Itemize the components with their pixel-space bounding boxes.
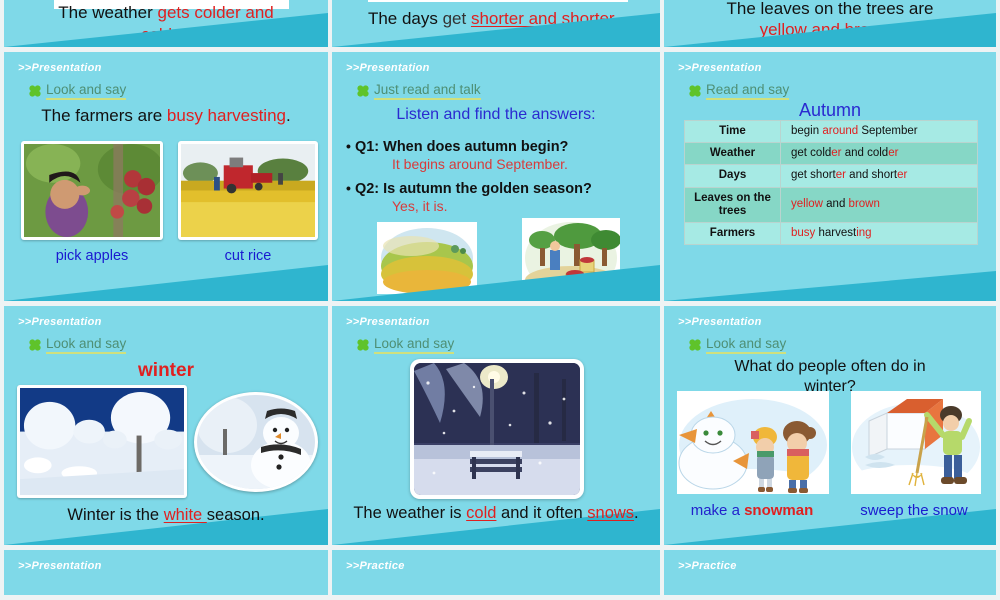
task-heading: Look and say [688,336,786,354]
slide-r2c2[interactable]: >>Presentation Just read and talk Listen… [332,52,660,301]
task-label: Just read and talk [374,82,481,100]
slide-r4c2[interactable]: >>Practice [332,550,660,595]
row-value: yellow and brown [781,187,978,222]
task-heading: Read and say [688,82,789,100]
r3c3-caption-right: sweep the snow [836,502,992,519]
task-label: Look and say [46,82,126,100]
breadcrumb: >>Presentation [678,316,762,328]
row-key: Weather [685,143,781,165]
question-list: • Q1: When does autumn begin? It begins … [346,138,650,222]
r3c1-sentence-b: white [164,506,207,524]
slide-r3c3[interactable]: >>Presentation Look and say What do peop… [664,306,996,545]
caption-cut-rice: cut rice [178,248,318,264]
breadcrumb: >>Presentation [18,560,102,572]
r1c1-text-b: gets colder and [157,3,273,22]
val-plain: get cold [791,147,831,159]
clover-icon [688,84,702,98]
r1c3-text-c: . [896,20,901,39]
table-row: Farmers busy harvesting [685,223,978,245]
image-golden-field[interactable] [377,222,477,294]
clover-icon [28,84,42,98]
val-red: er [831,147,841,159]
image-apple-picking[interactable] [21,141,163,240]
val-red: yellow [791,198,823,210]
r1c1-text-a: The weather [58,3,157,22]
breadcrumb: >>Presentation [346,316,430,328]
val-plain: begin [791,125,822,137]
r3c3-caption-left-b: snowman [744,502,813,519]
q2-text: Q2: Is autumn the golden season? [355,181,592,197]
image-apple-harvest-illustration[interactable] [522,218,620,298]
image-snowy-forest[interactable] [17,385,187,498]
val-red2: brown [849,198,880,210]
breadcrumb: >>Practice [678,560,737,572]
row-value: begin around September [781,121,978,143]
r3c2-sentence-b: cold [466,504,496,522]
clover-icon [688,338,702,352]
row-key: Leaves on the trees [685,187,781,222]
r2c2-heading: Listen and find the answers: [332,106,660,124]
task-heading: Just read and talk [356,82,481,100]
r3c2-sentence-c: and it often [496,504,587,522]
q1-text: Q1: When does autumn begin? [355,139,568,155]
row-value: busy harvesting [781,223,978,245]
row-value: get shorter and shorter [781,165,978,187]
r2c1-title-a: The farmers are [41,106,167,125]
table-row: Days get shorter and shorter [685,165,978,187]
question-row: • Q1: When does autumn begin? It begins … [346,138,650,172]
caption-pick-apples: pick apples [21,248,163,264]
clover-icon [28,338,42,352]
row-value: get colder and colder [781,143,978,165]
r3c3-caption-left-a: make a [691,502,744,519]
val-red2: ing [856,227,871,239]
row-key: Time [685,121,781,143]
val-red: around [822,125,858,137]
r2c1-title-c: . [286,106,291,125]
slide-r1c3[interactable]: The leaves on the trees are yellow and b… [664,0,996,47]
val-red2: er [888,147,898,159]
r3c2-sentence-a: The weather is [353,504,466,522]
r1c2-text-b: get [443,9,471,28]
r2c1-title-b: busy harvesting [167,106,286,125]
table-row: Time begin around September [685,121,978,143]
slide-r2c1[interactable]: >>Presentation Look and say The farmers … [4,52,328,301]
row-key: Farmers [685,223,781,245]
val-plain2: and cold [842,147,889,159]
val-plain2: harvest [815,227,856,239]
r3c1-sentence-a: Winter is the [67,506,163,524]
clover-icon [356,84,370,98]
bullet: • [346,138,351,154]
r1c1-text-c: colder. [141,25,191,44]
autumn-table: Time begin around September Weather get … [684,120,978,245]
image-kids-building-snowman[interactable] [677,391,829,494]
bullet: • [346,180,351,196]
clover-icon [356,338,370,352]
breadcrumb: >>Presentation [18,62,102,74]
slide-r3c2[interactable]: >>Presentation Look and say [332,306,660,545]
question-text: • Q1: When does autumn begin? [346,138,650,155]
r3c3-question-a: What do people often do in [664,358,996,376]
breadcrumb: >>Presentation [678,62,762,74]
val-plain2: and short [846,169,897,181]
slide-r4c1[interactable]: >>Presentation [4,550,328,595]
table-row: Leaves on the trees yellow and brown [685,187,978,222]
r1c2-text-a: The days [368,9,443,28]
val-red: busy [791,227,815,239]
task-label: Look and say [374,336,454,354]
question-text: • Q2: Is autumn the golden season? [346,180,650,197]
speaker-icon[interactable] [818,36,840,47]
r1c3-text-a: The leaves on the trees are [727,0,934,18]
r3c2-sentence-d: snows [587,504,634,522]
image-snowy-park-bench[interactable] [410,359,584,499]
breadcrumb: >>Practice [346,560,405,572]
slide-r3c1[interactable]: >>Presentation Look and say winter [4,306,328,545]
row-key: Days [685,165,781,187]
table-title: Autumn [664,100,996,121]
val-plain2: and [823,198,849,210]
breadcrumb: >>Presentation [346,62,430,74]
image-rice-harvest[interactable] [178,141,318,240]
task-heading: Look and say [28,82,126,100]
r3c2-sentence-e: . [634,504,639,522]
breadcrumb: >>Presentation [18,316,102,328]
slide-r1c2[interactable]: The days get shorter and shorter . [332,0,660,47]
r1c2-text-c: shorter and shorter [471,9,619,28]
r3c3-question-b: winter? [664,378,996,396]
a1-text: It begins around September. [346,156,650,172]
slide-r1c1[interactable]: The weather gets colder and colder. [4,0,328,47]
question-row: • Q2: Is autumn the golden season? Yes, … [346,180,650,214]
table-row: Weather get colder and colder [685,143,978,165]
val-red: er [836,169,846,181]
task-heading: Look and say [356,336,454,354]
r1c2-text-d: . [619,9,624,28]
val-red2: er [897,169,907,181]
r3c1-title: winter [4,360,328,382]
task-heading: Look and say [28,336,126,354]
task-label: Look and say [46,336,126,354]
white-text-box [368,0,628,2]
r3c1-sentence-c: season. [207,506,265,524]
image-man-sweeping-snow[interactable] [851,391,981,494]
val-plain2: September [858,125,917,137]
image-snowman[interactable] [194,392,318,492]
slide-r2c3[interactable]: >>Presentation Read and say Autumn Time … [664,52,996,301]
decorative-wedge [664,257,996,301]
slide-r4c3[interactable]: >>Practice [664,550,996,595]
task-label: Read and say [706,82,789,100]
val-plain: get short [791,169,836,181]
a2-text: Yes, it is. [346,198,650,214]
slide-thumbnail-grid: The weather gets colder and colder. The … [0,0,1000,600]
task-label: Look and say [706,336,786,354]
